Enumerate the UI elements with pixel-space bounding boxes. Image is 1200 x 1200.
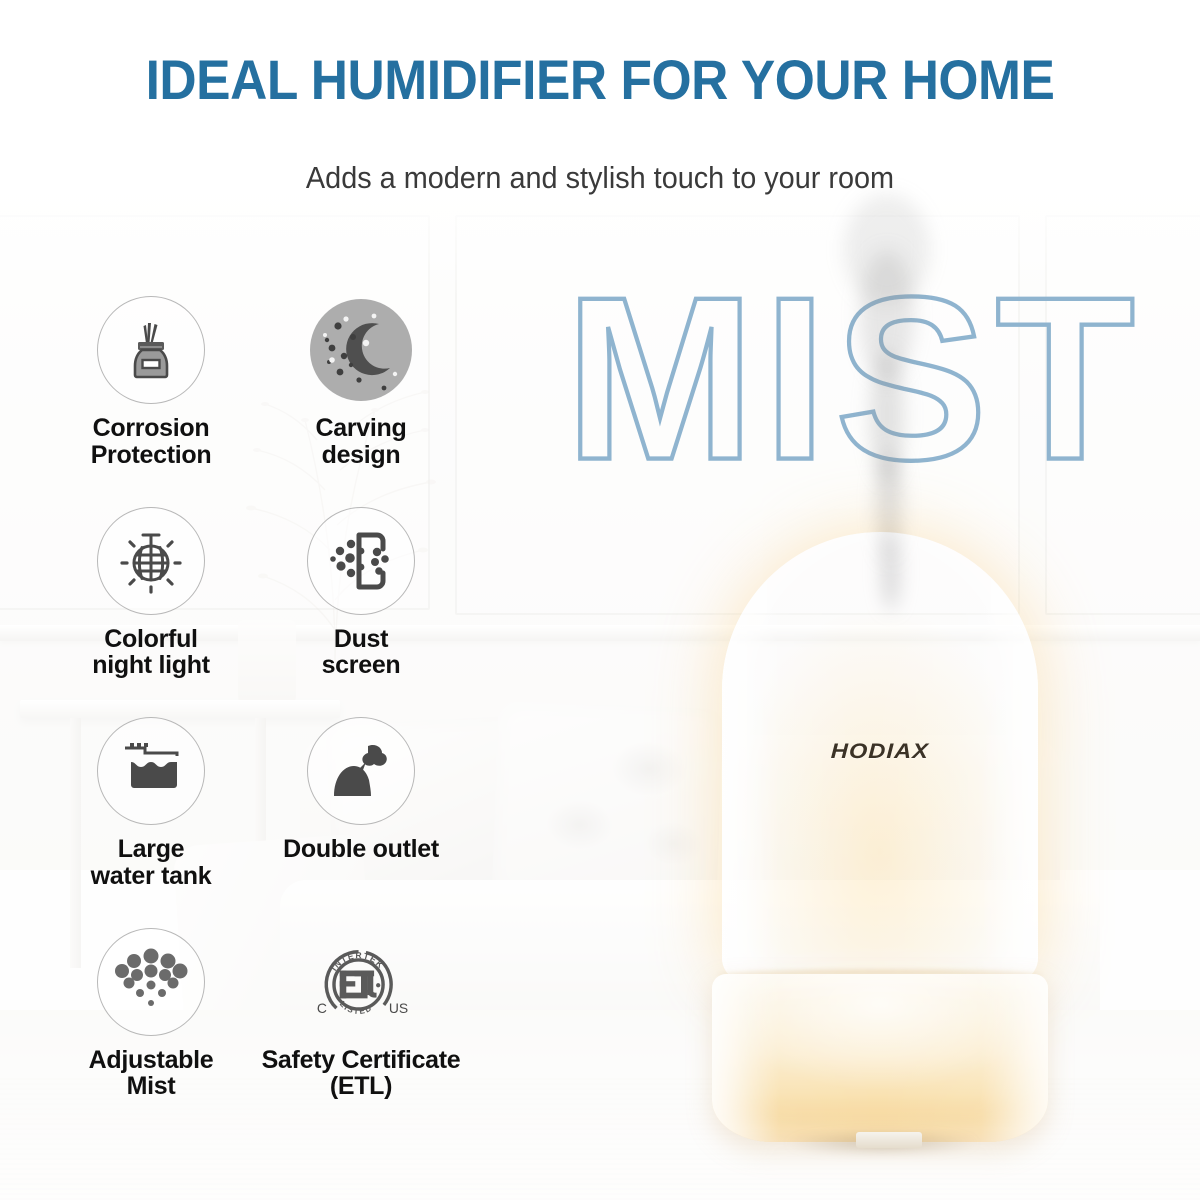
humidifier-foot bbox=[856, 1132, 922, 1148]
feature-label-line1: Safety Certificate bbox=[256, 1047, 466, 1074]
water-tank-icon bbox=[97, 717, 205, 825]
feature-row: Colorful night light bbox=[46, 507, 466, 680]
feature-label-line1: Colorful bbox=[46, 626, 256, 653]
mist-watermark-text: MIST bbox=[565, 262, 1143, 494]
feature-row: Large water tank Double outlet bbox=[46, 717, 466, 890]
etl-bottom-arc-text: LISTED bbox=[338, 999, 374, 1016]
feature-list: Corrosion Protection bbox=[46, 296, 466, 1100]
double-outlet-icon bbox=[307, 717, 415, 825]
feature-item-dust-screen: Dust screen bbox=[256, 507, 466, 680]
mist-dots-icon bbox=[97, 928, 205, 1036]
feature-label-line2: water tank bbox=[46, 863, 256, 890]
feature-label-line1: Adjustable bbox=[46, 1047, 256, 1074]
feature-label-line2: Protection bbox=[46, 442, 256, 469]
feature-label: Colorful night light bbox=[46, 626, 256, 680]
feature-label: Corrosion Protection bbox=[46, 415, 256, 469]
product-marketing-image: MIST IDEAL HUMIDIFIER FOR YOUR HOME Adds… bbox=[0, 0, 1200, 1200]
reed-diffuser-icon bbox=[97, 296, 205, 404]
feature-label-line1: Large bbox=[46, 836, 256, 863]
humidifier-product: HODIAX 1H 3H 6H ON LIGHT bbox=[706, 532, 1054, 1172]
feature-label: Carving design bbox=[256, 415, 466, 469]
feature-label-line2: (ETL) bbox=[256, 1073, 466, 1100]
svg-text:LISTED: LISTED bbox=[338, 999, 374, 1016]
feature-item-double-outlet: Double outlet bbox=[256, 717, 466, 890]
feature-label: Safety Certificate (ETL) bbox=[256, 1047, 466, 1101]
feature-label-line2: night light bbox=[46, 652, 256, 679]
feature-label: Double outlet bbox=[256, 836, 466, 863]
feature-item-adjustable-mist: Adjustable Mist bbox=[46, 928, 256, 1101]
row-spacer bbox=[46, 890, 466, 928]
feature-item-carving-design: Carving design bbox=[256, 296, 466, 469]
feature-item-large-water-tank: Large water tank bbox=[46, 717, 256, 890]
feature-label: Adjustable Mist bbox=[46, 1047, 256, 1101]
etl-badge-icon: INTERTEK LISTED bbox=[307, 928, 415, 1036]
feature-label-line2: Mist bbox=[46, 1073, 256, 1100]
feature-label-line1: Dust bbox=[256, 626, 466, 653]
brand-logo: HODIAX bbox=[685, 740, 1076, 764]
feature-item-colorful-night-light: Colorful night light bbox=[46, 507, 256, 680]
etl-right-mark: US bbox=[389, 1000, 408, 1016]
feature-item-corrosion-protection: Corrosion Protection bbox=[46, 296, 256, 469]
feature-label-line1: Carving bbox=[256, 415, 466, 442]
row-spacer bbox=[46, 679, 466, 717]
feature-row: Corrosion Protection bbox=[46, 296, 466, 469]
disco-ball-light-icon bbox=[97, 507, 205, 615]
feature-label: Dust screen bbox=[256, 626, 466, 680]
page-subtitle: Adds a modern and stylish touch to your … bbox=[42, 160, 1158, 196]
feature-label-line1: Double outlet bbox=[256, 836, 466, 863]
dust-screen-icon bbox=[307, 507, 415, 615]
etl-left-mark: C bbox=[317, 1000, 327, 1016]
moon-stars-icon bbox=[307, 296, 415, 404]
feature-label-line2: design bbox=[256, 442, 466, 469]
row-spacer bbox=[46, 469, 466, 507]
feature-label: Large water tank bbox=[46, 836, 256, 890]
feature-label-line1: Corrosion bbox=[46, 415, 256, 442]
feature-row: Adjustable Mist bbox=[46, 928, 466, 1101]
humidifier-base: 1H 3H 6H ON LIGHT MIST bbox=[712, 974, 1048, 1142]
feature-item-safety-certificate: INTERTEK LISTED bbox=[256, 928, 466, 1101]
feature-label-line2: screen bbox=[256, 652, 466, 679]
page-headline: IDEAL HUMIDIFIER FOR YOUR HOME bbox=[48, 52, 1152, 108]
